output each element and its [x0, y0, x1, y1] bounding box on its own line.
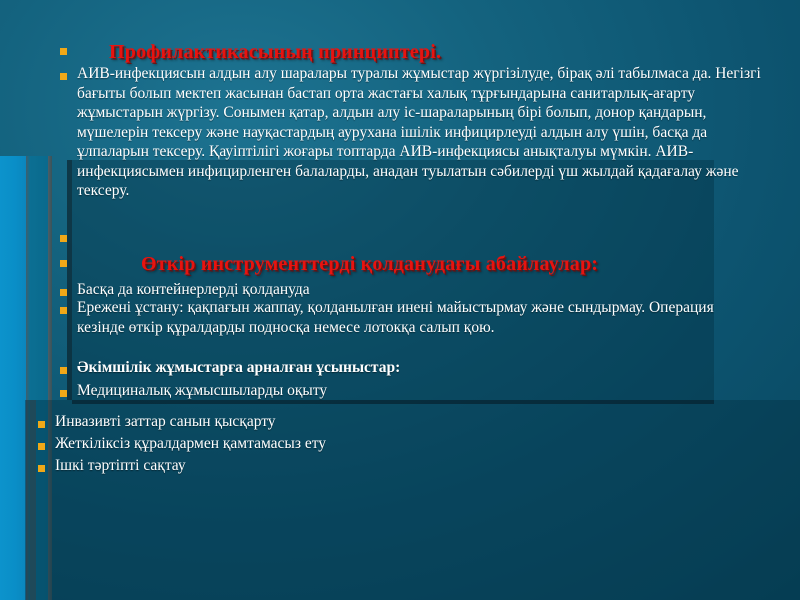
bullet-marker-icon	[60, 367, 67, 374]
slide-heading-primary: Профилактикасының принциптері.	[77, 40, 441, 64]
bullet-marker-icon	[38, 421, 45, 428]
bullet-marker-icon	[60, 307, 67, 314]
bullet-item-paragraph-4: Әкімшілік жұмыстарға арналған ұсыныстар:	[60, 358, 760, 378]
bullet-item-paragraph-3: Ережені ұстану: қақпағын жаппау, қолданы…	[60, 298, 760, 337]
bullet-item-heading-1: Профилактикасының принциптері.	[60, 40, 780, 64]
paragraph-text: Жеткіліксіз құралдармен қамтамасыз ету	[55, 434, 326, 454]
bullet-item-paragraph-5: Медициналық жұмысшыларды оқыту	[60, 381, 760, 401]
paragraph-text: Инвазивті заттар санын қысқарту	[55, 412, 276, 432]
slide-heading-secondary: Өткір инструменттерді қолданудағы абайла…	[77, 252, 598, 276]
bullet-item-paragraph-1: АИВ-инфекциясын алдын алу шаралары турал…	[60, 64, 765, 201]
bullet-item-paragraph-6: Инвазивті заттар санын қысқарту	[38, 412, 758, 432]
paragraph-text: Ережені ұстану: қақпағын жаппау, қолданы…	[77, 298, 760, 337]
bullet-marker-icon	[60, 260, 67, 267]
paragraph-text-emphasis: Әкімшілік жұмыстарға арналған ұсыныстар:	[77, 358, 400, 378]
paragraph-text: Басқа да контейнерлерді қолдануда	[77, 280, 310, 300]
bullet-item-paragraph-8: Ішкі тәртіпті сақтау	[38, 456, 758, 476]
bullet-item-heading-2: Өткір инструменттерді қолданудағы абайла…	[60, 252, 800, 276]
bullet-item-empty-line	[60, 226, 760, 242]
bullet-marker-icon	[60, 73, 67, 80]
bullet-marker-icon	[60, 48, 67, 55]
bullet-marker-icon	[60, 235, 67, 242]
paragraph-text: Медициналық жұмысшыларды оқыту	[77, 381, 327, 401]
slide-content: Профилактикасының принциптері. АИВ-инфек…	[0, 0, 800, 600]
bullet-item-paragraph-2: Басқа да контейнерлерді қолдануда	[60, 280, 760, 300]
bullet-marker-icon	[38, 465, 45, 472]
bullet-item-paragraph-7: Жеткіліксіз құралдармен қамтамасыз ету	[38, 434, 758, 454]
paragraph-text: АИВ-инфекциясын алдын алу шаралары турал…	[77, 64, 765, 201]
bullet-marker-icon	[60, 289, 67, 296]
bullet-marker-icon	[60, 390, 67, 397]
presentation-slide: Профилактикасының принциптері. АИВ-инфек…	[0, 0, 800, 600]
bullet-marker-icon	[38, 443, 45, 450]
paragraph-text: Ішкі тәртіпті сақтау	[55, 456, 186, 476]
